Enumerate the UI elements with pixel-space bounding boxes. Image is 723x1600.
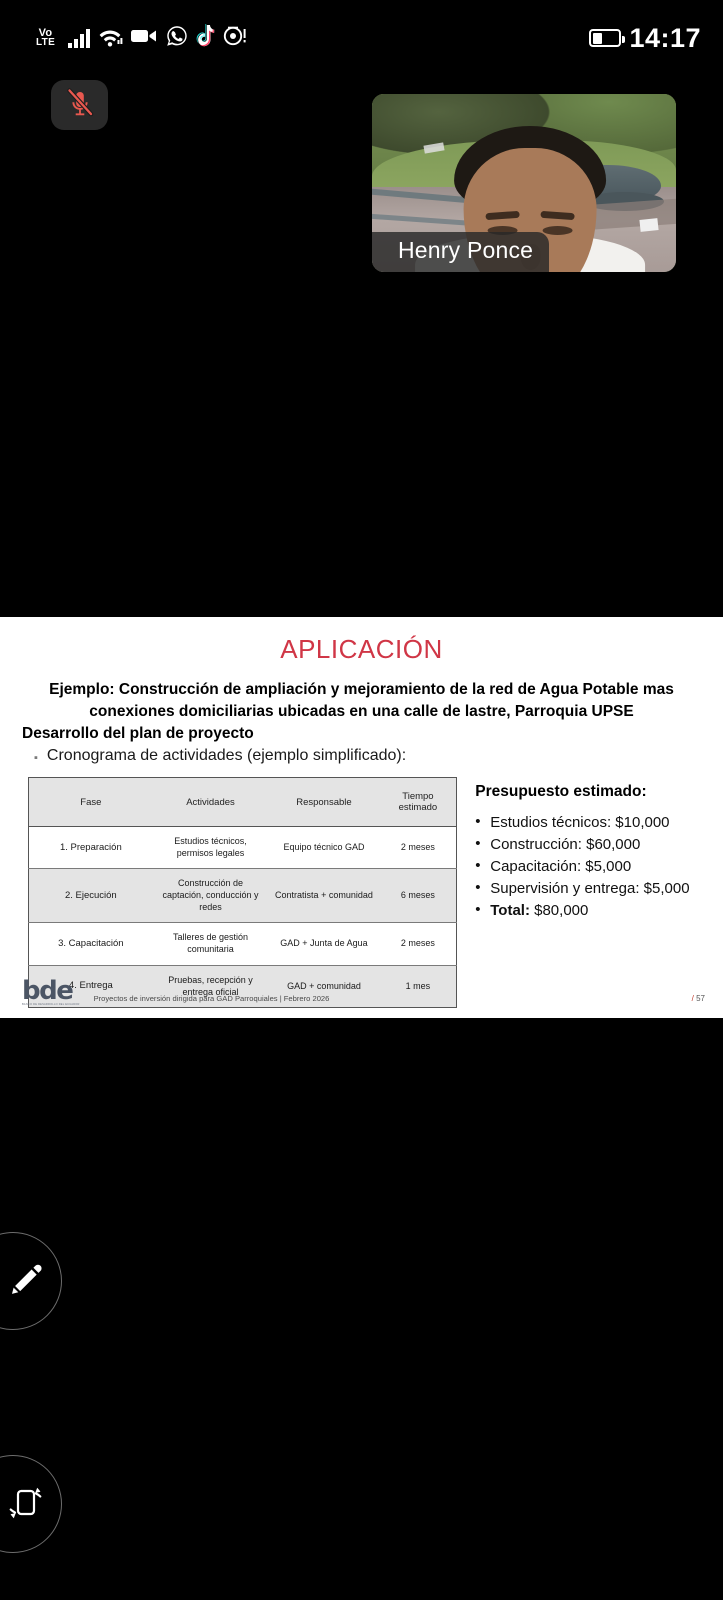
list-item: Estudios técnicos: $10,000 xyxy=(475,813,709,833)
table-header-row: Fase Actividades Responsable Tiempo esti… xyxy=(29,778,457,827)
list-item-total: Total: $80,000 xyxy=(475,901,709,921)
phone-screen: Vo LTE 14:17 xyxy=(0,0,723,1600)
rotate-screen-button[interactable] xyxy=(0,1455,62,1553)
table-row: 2. Ejecución Construcción de captación, … xyxy=(29,869,457,923)
volte-indicator: Vo LTE xyxy=(36,28,55,48)
table-cell: Equipo técnico GAD xyxy=(268,827,379,869)
footer-caption: Proyectos de inversión dirigida para GAD… xyxy=(94,984,330,1003)
rotate-screen-icon xyxy=(0,1479,49,1530)
slide-subheading: Desarrollo del plan de proyecto xyxy=(0,723,723,745)
table-cell: 2 meses xyxy=(380,827,457,869)
table-row: 1. Preparación Estudios técnicos, permis… xyxy=(29,827,457,869)
table-header-cell: Tiempo estimado xyxy=(380,778,457,827)
slide-bullet: ▪ Cronograma de actividades (ejemplo sim… xyxy=(0,745,723,769)
list-item: Construcción: $60,000 xyxy=(475,835,709,855)
table-cell: 2 meses xyxy=(380,923,457,965)
table-cell: Estudios técnicos, permisos legales xyxy=(153,827,269,869)
pencil-icon xyxy=(0,1259,46,1304)
annotate-button[interactable] xyxy=(0,1232,62,1330)
signal-bars-icon xyxy=(68,28,90,48)
table-cell: 2. Ejecución xyxy=(29,869,153,923)
shared-slide[interactable]: APLICACIÓN Ejemplo: Construcción de ampl… xyxy=(0,617,723,1018)
bde-logo: bde BANCO DE DESARROLLO DEL ECUADOR xyxy=(22,980,80,1006)
table-header-cell: Actividades xyxy=(153,778,269,827)
budget-title: Presupuesto estimado: xyxy=(475,783,709,813)
table-cell: GAD + Junta de Agua xyxy=(268,923,379,965)
table-cell: 6 meses xyxy=(380,869,457,923)
slide-page-indicator: / 57 xyxy=(692,984,705,1003)
slide-footer: bde BANCO DE DESARROLLO DEL ECUADOR Proy… xyxy=(0,974,723,1018)
whatsapp-icon xyxy=(165,24,189,53)
status-bar-clock: 14:17 xyxy=(629,23,701,54)
budget-total-label: Total: xyxy=(490,902,530,919)
slide-heading: Ejemplo: Construcción de ampliación y me… xyxy=(0,665,723,723)
table-cell: 1. Preparación xyxy=(29,827,153,869)
list-item: Supervisión y entrega: $5,000 xyxy=(475,879,709,899)
table-cell: Contratista + comunidad xyxy=(268,869,379,923)
wifi-icon xyxy=(97,25,123,52)
battery-low-icon xyxy=(589,29,621,47)
table-row: 3. Capacitación Talleres de gestión comu… xyxy=(29,923,457,965)
participant-video-tile[interactable]: Henry Ponce xyxy=(372,94,676,272)
budget-list: Estudios técnicos: $10,000 Construcción:… xyxy=(475,813,709,921)
status-bar-right: 14:17 xyxy=(589,23,723,54)
tiktok-icon xyxy=(196,24,216,52)
table-header-cell: Responsable xyxy=(268,778,379,827)
table-cell: 3. Capacitación xyxy=(29,923,153,965)
location-alert-icon xyxy=(223,25,247,52)
table-cell: Talleres de gestión comunitaria xyxy=(153,923,269,965)
slide-body: Fase Actividades Responsable Tiempo esti… xyxy=(0,769,723,1008)
list-item: Capacitación: $5,000 xyxy=(475,857,709,877)
table-cell: Construcción de captación, conducción y … xyxy=(153,869,269,923)
video-camera-icon xyxy=(130,26,158,51)
budget-total-value: $80,000 xyxy=(534,902,588,919)
status-bar: Vo LTE 14:17 xyxy=(0,0,723,76)
table-header-cell: Fase xyxy=(29,778,153,827)
slide-title: APLICACIÓN xyxy=(0,617,723,665)
slide-bullet-text: Cronograma de actividades (ejemplo simpl… xyxy=(47,747,406,765)
microphone-muted-icon xyxy=(65,87,95,124)
mute-toggle-button[interactable] xyxy=(51,80,108,130)
bullet-dot-icon: ▪ xyxy=(34,747,38,769)
status-bar-left-icons: Vo LTE xyxy=(0,24,247,53)
participant-name-badge: Henry Ponce xyxy=(372,232,549,272)
